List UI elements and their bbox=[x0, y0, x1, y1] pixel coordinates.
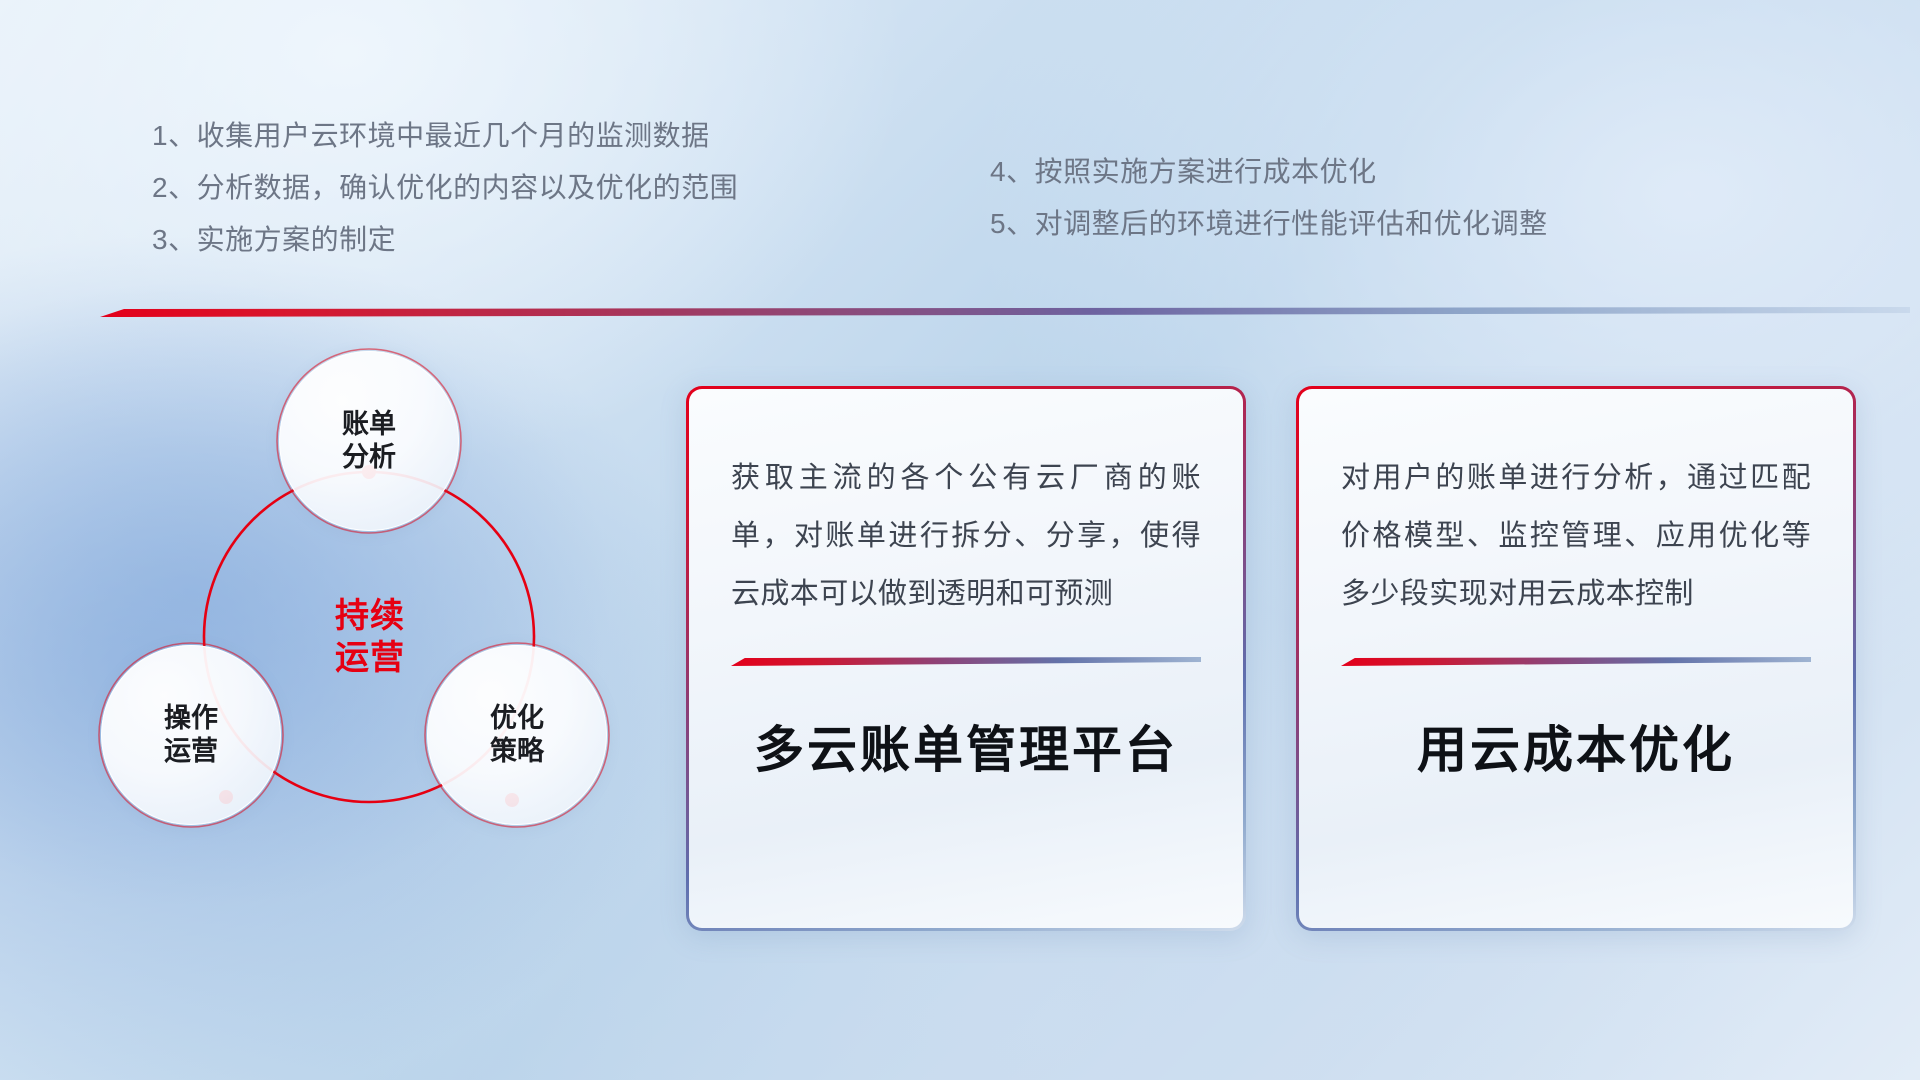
step-item-2: 2、分析数据，确认优化的内容以及优化的范围 bbox=[152, 174, 738, 202]
continuous-operation-venn-diagram: 账单 分析 操作 运营 优化 策略 持续 运营 bbox=[95, 345, 655, 925]
card-title: 多云账单管理平台 bbox=[731, 710, 1201, 782]
venn-center-label: 持续 运营 bbox=[279, 557, 461, 717]
venn-bubble-line2: 策略 bbox=[490, 735, 544, 768]
step-item-1: 1、收集用户云环境中最近几个月的监测数据 bbox=[152, 122, 738, 150]
venn-bubble-line2: 运营 bbox=[164, 735, 218, 768]
step-item-3: 3、实施方案的制定 bbox=[152, 226, 738, 254]
card-rule-divider bbox=[731, 657, 1201, 666]
steps-right-column: 4、按照实施方案进行成本优化 5、对调整后的环境进行性能评估和优化调整 bbox=[990, 158, 1548, 262]
venn-bubble-line1: 账单 bbox=[342, 408, 396, 441]
card-body-text: 对用户的账单进行分析，通过匹配价格模型、监控管理、应用优化等多少段实现对用云成本… bbox=[1341, 449, 1811, 623]
venn-bubble-bill-analysis[interactable]: 账单 分析 bbox=[279, 351, 459, 531]
card-body-text: 获取主流的各个公有云厂商的账单，对账单进行拆分、分享，使得云成本可以做到透明和可… bbox=[731, 449, 1201, 623]
slide-canvas: 1、收集用户云环境中最近几个月的监测数据 2、分析数据，确认优化的内容以及优化的… bbox=[0, 0, 1920, 1080]
card-cloud-cost-optimization[interactable]: 对用户的账单进行分析，通过匹配价格模型、监控管理、应用优化等多少段实现对用云成本… bbox=[1296, 386, 1856, 931]
steps-left-column: 1、收集用户云环境中最近几个月的监测数据 2、分析数据，确认优化的内容以及优化的… bbox=[152, 122, 738, 278]
venn-bubble-line1: 优化 bbox=[490, 702, 544, 735]
venn-bubble-operation-ops[interactable]: 操作 运营 bbox=[101, 645, 281, 825]
venn-center-label-line2: 运营 bbox=[335, 637, 405, 680]
card-multi-cloud-bill-platform[interactable]: 获取主流的各个公有云厂商的账单，对账单进行拆分、分享，使得云成本可以做到透明和可… bbox=[686, 386, 1246, 931]
section-divider bbox=[100, 307, 1910, 317]
venn-bubble-line1: 操作 bbox=[164, 702, 218, 735]
venn-center-label-line1: 持续 bbox=[335, 595, 405, 638]
step-item-4: 4、按照实施方案进行成本优化 bbox=[990, 158, 1548, 186]
card-title: 用云成本优化 bbox=[1341, 710, 1811, 782]
card-inner: 获取主流的各个公有云厂商的账单，对账单进行拆分、分享，使得云成本可以做到透明和可… bbox=[689, 389, 1243, 928]
venn-bubble-line2: 分析 bbox=[342, 441, 396, 474]
card-inner: 对用户的账单进行分析，通过匹配价格模型、监控管理、应用优化等多少段实现对用云成本… bbox=[1299, 389, 1853, 928]
step-item-5: 5、对调整后的环境进行性能评估和优化调整 bbox=[990, 210, 1548, 238]
card-rule-divider bbox=[1341, 657, 1811, 666]
